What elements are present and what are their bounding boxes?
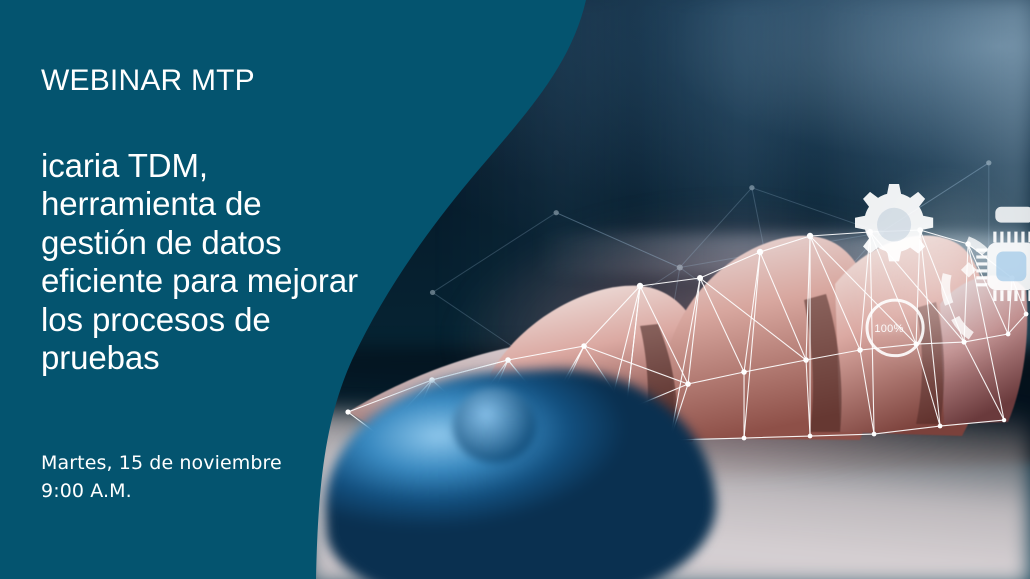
headline-line: herramienta de	[41, 185, 441, 223]
event-time: 9:00 A.M.	[41, 478, 282, 506]
headline-line: gestión de datos	[41, 224, 441, 262]
headline-line: eficiente para mejorar	[41, 262, 441, 300]
headline-line: icaria TDM,	[41, 147, 441, 185]
event-date: Martes, 15 de noviembre	[41, 450, 282, 478]
event-datetime: Martes, 15 de noviembre 9:00 A.M.	[41, 450, 282, 505]
headline: icaria TDM, herramienta de gestión de da…	[41, 147, 441, 378]
progress-percent-label: 100%	[874, 323, 903, 335]
headline-line: los procesos de	[41, 301, 441, 339]
hud-icons	[855, 179, 1030, 387]
cpu-chip-icon	[976, 207, 1030, 301]
hud-overlay: 100%	[855, 179, 1030, 387]
diamond-icon	[961, 263, 977, 278]
kicker-title: WEBINAR MTP	[41, 64, 255, 97]
progress-arc-icon	[946, 241, 986, 336]
poster-content: WEBINAR MTP icaria TDM, herramienta de g…	[0, 0, 430, 579]
headline-line: pruebas	[41, 339, 441, 377]
webinar-poster: 100% WEBINAR MTP icaria TDM, herramienta…	[0, 0, 1030, 579]
mouse-scroll-wheel	[453, 388, 535, 463]
gear-hole	[877, 208, 911, 242]
